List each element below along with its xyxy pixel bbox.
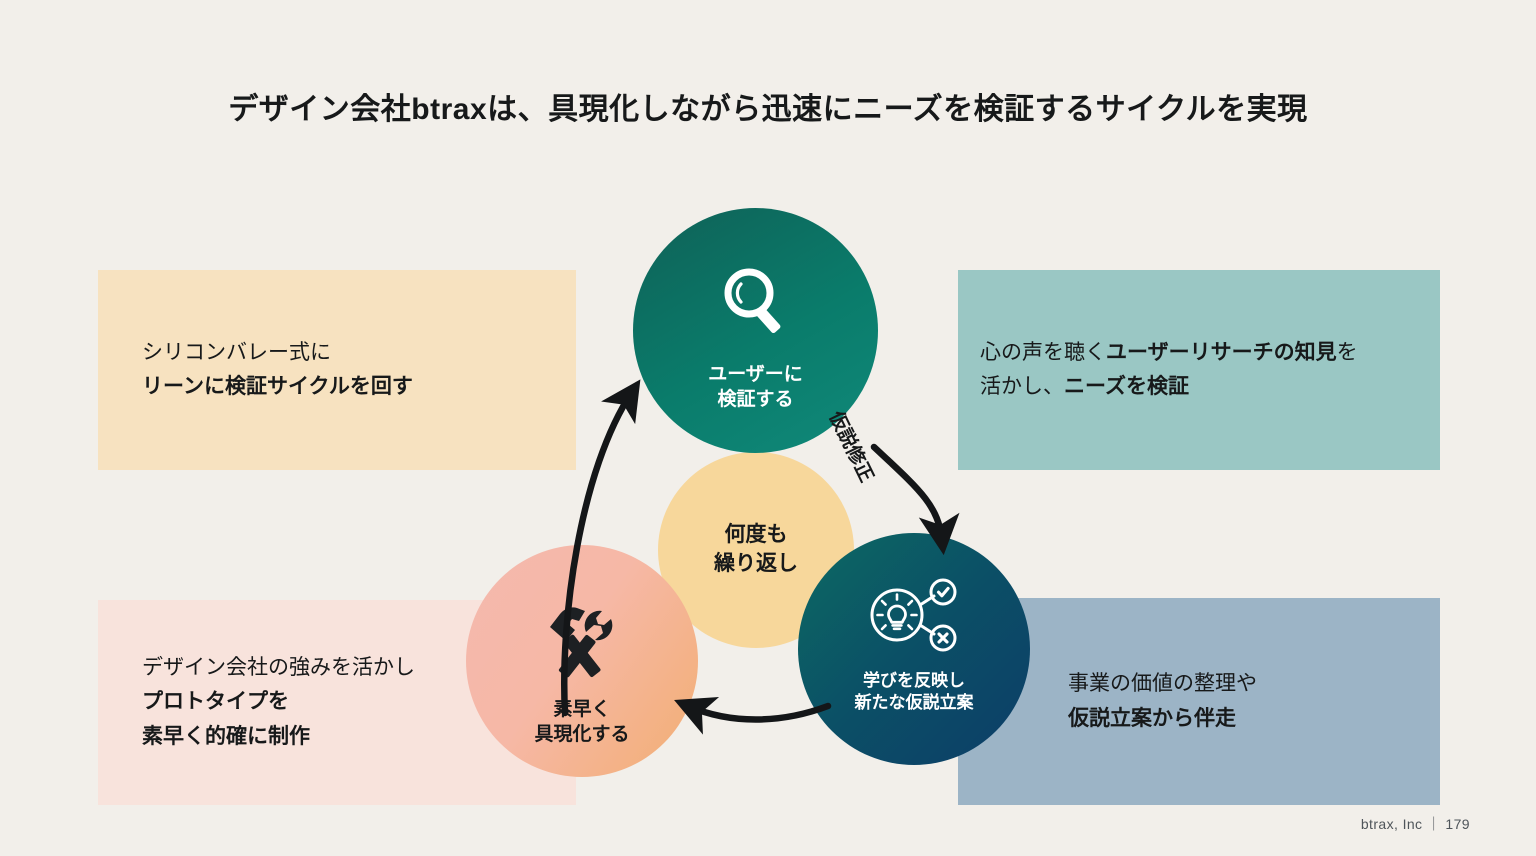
cycle-circle-build: 素早く 具現化する <box>466 545 698 777</box>
note-top-right-line1-a: 心の声を聴く <box>980 341 1106 364</box>
note-bottom-right-line1: 事業の価値の整理や <box>1068 667 1440 701</box>
footer-credit: btrax, Inc ｜ 179 <box>1361 814 1470 834</box>
cycle-build-label: 素早く 具現化する <box>534 698 629 747</box>
arrow-label-revise: 仮説修正 <box>824 406 882 486</box>
note-box-bottom-right: 事業の価値の整理や 仮説立案から伴走 <box>958 598 1440 805</box>
page-title: デザイン会社btraxは、具現化しながら迅速にニーズを検証するサイクルを実現 <box>0 84 1536 128</box>
cycle-validate-label-line1: ユーザーに <box>708 364 803 385</box>
note-top-right-line2: 活かし、ニーズを検証 <box>980 370 1440 404</box>
note-top-right-line1: 心の声を聴くユーザーリサーチの知見を <box>980 336 1440 370</box>
note-top-right-line2-bold: ニーズを検証 <box>1064 375 1189 398</box>
cycle-center-label-line1: 何度も <box>725 523 788 546</box>
cycle-center-label: 何度も 繰り返し <box>714 521 798 578</box>
cycle-learn-label: 学びを反映し 新たな仮説立案 <box>855 670 974 714</box>
note-top-left-line2-bold: リーンに検証サイクルを回す <box>142 375 413 398</box>
note-bottom-left-line2-bold: プロトタイプを <box>142 690 289 713</box>
note-top-left-line2: リーンに検証サイクルを回す <box>142 370 576 404</box>
idea-validation-icon <box>864 575 964 660</box>
arrow-validate-to-learn <box>874 447 942 540</box>
cycle-validate-label-line2: 検証する <box>717 389 793 410</box>
cycle-circle-learn: 学びを反映し 新たな仮説立案 <box>798 533 1030 765</box>
cycle-build-label-line1: 素早く <box>553 699 610 720</box>
note-top-left-line1: シリコンバレー式に <box>142 336 576 370</box>
note-bottom-right-line2-bold: 仮説立案から伴走 <box>1068 707 1236 730</box>
note-box-top-right: 心の声を聴くユーザーリサーチの知見を 活かし、ニーズを検証 <box>958 270 1440 470</box>
note-top-right-line1-bold: ユーザーリサーチの知見 <box>1106 341 1337 364</box>
note-top-right-line2-a: 活かし、 <box>980 375 1064 398</box>
cycle-center-label-line2: 繰り返し <box>714 552 798 575</box>
cycle-learn-label-line2: 新たな仮説立案 <box>855 693 974 712</box>
arrow-learn-to-build <box>688 706 828 720</box>
note-box-top-left: シリコンバレー式に リーンに検証サイクルを回す <box>98 270 576 470</box>
cycle-validate-label: ユーザーに 検証する <box>708 363 803 412</box>
note-bottom-left-line3-bold: 素早く的確に制作 <box>142 725 310 748</box>
cycle-build-label-line2: 具現化する <box>534 724 629 745</box>
note-top-right-line1-b: を <box>1337 341 1358 364</box>
magnifier-icon <box>713 260 799 351</box>
slide-canvas: デザイン会社btraxは、具現化しながら迅速にニーズを検証するサイクルを実現 シ… <box>0 0 1536 856</box>
cycle-learn-label-line1: 学びを反映し <box>863 671 965 690</box>
note-bottom-right-line2: 仮説立案から伴走 <box>1068 702 1440 736</box>
hammer-wrench-icon <box>536 597 628 686</box>
